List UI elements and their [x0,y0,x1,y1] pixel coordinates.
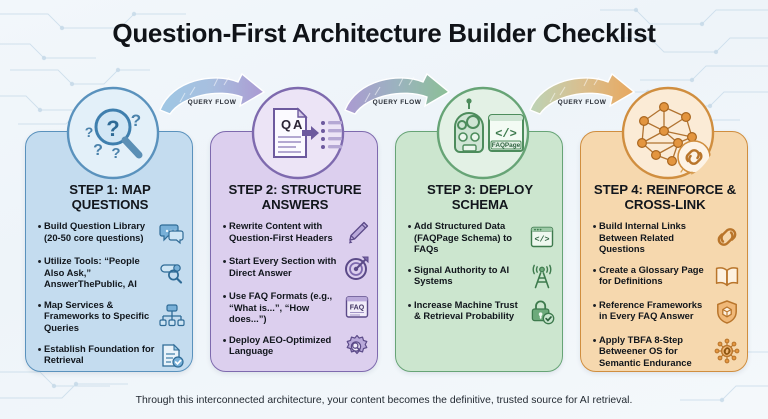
bullet-dot: • [405,220,414,255]
list-item[interactable]: • Signal Authority to AI Systems [405,264,555,290]
bullet-dot: • [220,334,229,360]
bullet-text: Establish Foundation for Retrieval [44,343,159,369]
list-item[interactable]: • Reference Frameworks in Every FAQ Answ… [590,299,740,325]
gear-search-icon [344,334,370,360]
list-item[interactable]: • Utilize Tools: “People Also Ask,” Answ… [35,255,185,290]
document-check-icon [159,343,185,369]
bullet-dot: • [220,290,229,325]
lock-check-icon [529,299,555,325]
magnifier-question-marks-icon: ? ? ? ? ? [65,85,161,181]
bullet-dot: • [405,299,414,325]
svg-text:A: A [293,117,303,132]
faq-window-icon: FAQ [344,294,370,320]
list-item[interactable]: • Apply TBFA 8-Step Betweener OS for Sem… [590,334,740,369]
list-item[interactable]: • Build Question Library (20-50 core que… [35,220,185,246]
target-arrow-icon [344,255,370,281]
bullet-text: Increase Machine Trust & Retrieval Proba… [414,299,529,325]
bullet-dot: • [590,264,599,290]
step-3-bullets: • Add Structured Data (FAQPage Schema) t… [405,220,555,334]
svg-text:</>: </> [495,127,517,141]
list-item[interactable]: • Build Internal Links Between Related Q… [590,220,740,255]
list-item[interactable]: • Start Every Section with Direct Answer [220,255,370,281]
list-item[interactable]: • Increase Machine Trust & Retrieval Pro… [405,299,555,325]
bullet-text: Use FAQ Formats (e.g., “What is...”, “Ho… [229,290,344,325]
svg-text:?: ? [131,111,141,130]
list-item[interactable]: • Deploy AEO-Optimized Language [220,334,370,360]
svg-text:?: ? [93,142,103,159]
bullet-text: Map Services & Frameworks to Specific Qu… [44,299,159,334]
bullet-dot: • [220,220,229,246]
shield-gem-icon [714,299,740,325]
query-flow-arrow-2: QUERY FLOW [341,70,453,118]
svg-text:Q: Q [281,117,291,132]
list-item[interactable]: • Establish Foundation for Retrieval [35,343,185,369]
svg-text:?: ? [106,116,119,141]
list-item[interactable]: • Create a Glossary Page for Definitions [590,264,740,290]
step-2-bullets: • Rewrite Content with Question-First He… [220,220,370,369]
bullet-text: Build Internal Links Between Related Que… [599,220,714,255]
step-4-bullets: • Build Internal Links Between Related Q… [590,220,740,378]
bullet-dot: • [35,299,44,334]
arrow-1-label: QUERY FLOW [156,99,268,106]
bullet-text: Rewrite Content with Question-First Head… [229,220,344,246]
step-1-circle-icon: ? ? ? ? ? [65,85,161,181]
bullet-text: Apply TBFA 8-Step Betweener OS for Seman… [599,334,714,369]
chat-bubbles-icon [159,220,185,246]
bullet-dot: • [220,255,229,281]
svg-text:</>: </> [534,235,549,245]
arrow-3-label: QUERY FLOW [526,99,638,106]
search-bar-icon [159,259,185,285]
page-title: Question-First Architecture Builder Chec… [0,18,768,49]
step-4-title: STEP 4: REINFORCE & CROSS-LINK [589,182,741,212]
step-3-title: STEP 3: DEPLOY SCHEMA [404,182,556,212]
broadcast-tower-icon [529,264,555,290]
query-flow-arrow-3: QUERY FLOW [526,70,638,118]
bullet-text: Create a Glossary Page for Definitions [599,264,714,290]
bullet-dot: • [35,255,44,290]
list-item[interactable]: • Rewrite Content with Question-First He… [220,220,370,246]
footer-note: Through this interconnected architecture… [0,395,768,406]
code-window-icon: </> [529,224,555,250]
bullet-text: Build Question Library (20-50 core quest… [44,220,159,246]
step-1-bullets: • Build Question Library (20-50 core que… [35,220,185,378]
bullet-text: Add Structured Data (FAQPage Schema) to … [414,220,529,255]
query-flow-arrow-1: QUERY FLOW [156,70,268,118]
bullet-text: Start Every Section with Direct Answer [229,255,344,281]
arrow-2-shape [341,70,453,118]
bullet-dot: • [590,299,599,325]
svg-text:FAQ: FAQ [350,305,365,312]
bullet-text: Utilize Tools: “People Also Ask,” Answer… [44,255,159,290]
bullet-text: Reference Frameworks in Every FAQ Answer [599,299,714,325]
svg-text:?: ? [85,124,94,140]
svg-text:FAQPage: FAQPage [492,142,521,149]
pencil-icon [344,220,370,246]
bullet-dot: • [590,220,599,255]
list-item[interactable]: • Add Structured Data (FAQPage Schema) t… [405,220,555,255]
svg-text:?: ? [111,145,120,162]
list-item[interactable]: • Map Services & Frameworks to Specific … [35,299,185,334]
list-item[interactable]: • Use FAQ Formats (e.g., “What is...”, “… [220,290,370,325]
arrow-3-shape [526,70,638,118]
sitemap-icon [159,303,185,329]
atom-network-icon [714,338,740,364]
bullet-dot: • [35,220,44,246]
step-2-title: STEP 2: STRUCTURE ANSWERS [219,182,371,212]
bullet-dot: • [35,343,44,369]
bullet-text: Signal Authority to AI Systems [414,264,529,290]
bullet-dot: • [590,334,599,369]
bullet-dot: • [405,264,414,290]
bullet-text: Deploy AEO-Optimized Language [229,334,344,360]
open-book-icon [714,264,740,290]
step-1-title: STEP 1: MAP QUESTIONS [34,182,186,212]
chain-link-icon [714,224,740,250]
arrow-2-label: QUERY FLOW [341,99,453,106]
arrow-1-shape [156,70,268,118]
